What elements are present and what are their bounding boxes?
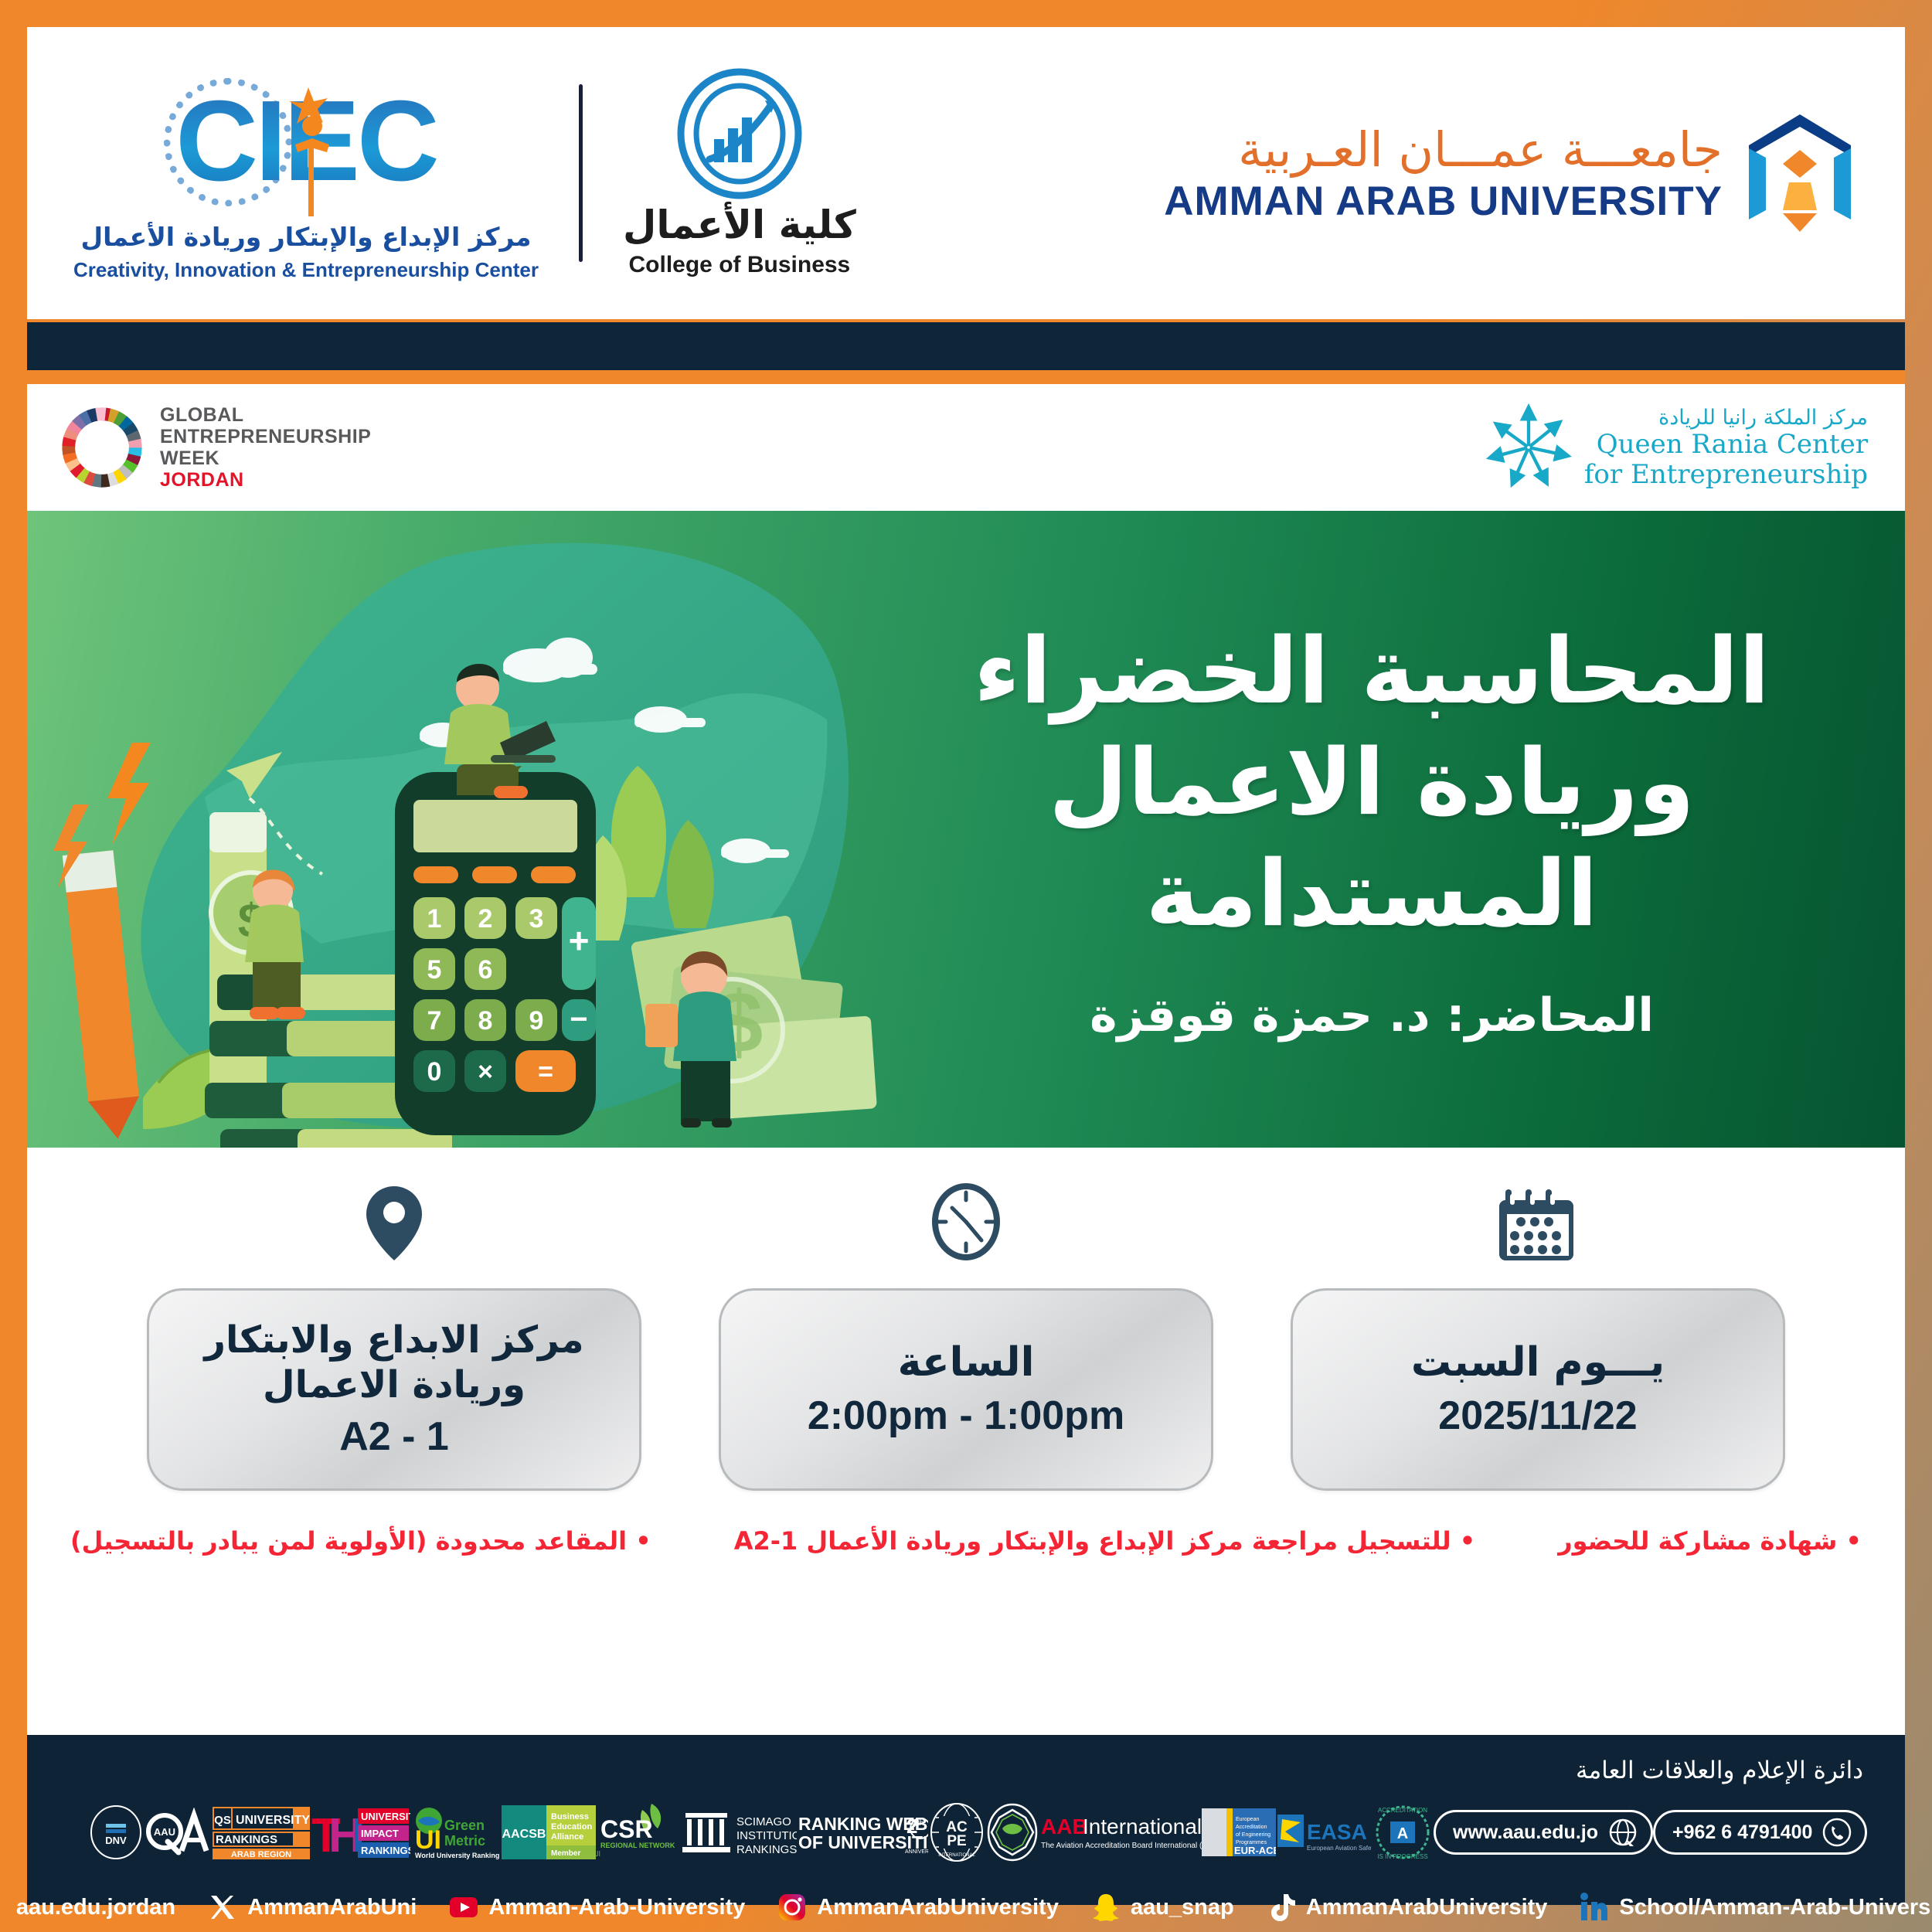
svg-text:SCIMAGO: SCIMAGO <box>736 1815 791 1828</box>
registration-notes: • شهادة مشاركة للحضور • للتسجيل مراجعة م… <box>27 1491 1905 1556</box>
svg-text:3: 3 <box>529 904 544 934</box>
location-name: مركز الابداع والابتكار وريادة الاعمال <box>169 1318 619 1408</box>
svg-text:×: × <box>478 1057 493 1087</box>
social-linkedin[interactable]: School/Amman-Arab-University <box>1578 1891 1932 1923</box>
phone-pill[interactable]: +962 6 4791400 <box>1653 1810 1867 1855</box>
note-limited-seats: • المقاعد محدودة (الأولوية لمن يبادر بال… <box>70 1526 651 1556</box>
svg-text:UNIVERSITY: UNIVERSITY <box>361 1811 410 1822</box>
college-of-business-icon <box>674 68 805 199</box>
qrc-english-line-1: Queen Rania Center <box>1584 430 1868 459</box>
phone-number: +962 6 4791400 <box>1672 1821 1812 1844</box>
footer-department: دائرة الإعلام والعلاقات العامة <box>69 1757 1863 1784</box>
svg-text:ARAB REGION: ARAB REGION <box>231 1850 291 1859</box>
qrc-arrows-icon <box>1484 403 1573 492</box>
location-room: A2 - 1 <box>339 1413 449 1461</box>
event-speaker: المحاضر: د. حمزة قوقزة <box>1090 988 1654 1043</box>
svg-text:A: A <box>1397 1825 1408 1842</box>
facebook-icon <box>0 1891 8 1923</box>
svg-text:INSTITUTIONS: INSTITUTIONS <box>736 1829 797 1842</box>
svg-text:RANKINGS: RANKINGS <box>361 1845 410 1856</box>
svg-text:AAB: AAB <box>1041 1815 1088 1838</box>
university-arabic-name: جامعـــة عمـــان العـربية <box>1164 121 1723 178</box>
university-logo-block: جامعـــة عمـــان العـربية AMMAN ARAB UNI… <box>1164 111 1905 235</box>
svg-text:Alliance: Alliance <box>551 1832 583 1842</box>
header-left-logos: CIEC مركز الإبداع والإبتكار وريادة الأعم… <box>27 64 856 282</box>
linkedin-icon <box>1578 1891 1611 1923</box>
accreditation-logos: DNV AAU <box>69 1795 1863 1869</box>
snapchat-icon <box>1090 1891 1122 1923</box>
svg-text:ACCREDITATION: ACCREDITATION <box>1378 1807 1427 1814</box>
qrc-text: مركز الملكة رانيا للريادة Queen Rania Ce… <box>1584 406 1868 488</box>
note-registration: • للتسجيل مراجعة مركز الإبداع والإبتكار … <box>734 1526 1475 1556</box>
detail-card-date-box: يـــوم السبت 2025/11/22 <box>1291 1288 1785 1491</box>
svg-text:INTERNATIONAL: INTERNATIONAL <box>938 1853 975 1858</box>
svg-text:=: = <box>538 1057 553 1087</box>
gew-line-4: JORDAN <box>160 469 371 491</box>
qrc-arabic-name: مركز الملكة رانيا للريادة <box>1584 406 1868 430</box>
facebook-handle: aau.edu.jordan <box>16 1895 175 1920</box>
calendar-icon <box>1495 1175 1581 1268</box>
islamic-accreditation-logo <box>985 1802 1039 1862</box>
instagram-handle: AmmanArabUniversity <box>817 1895 1059 1920</box>
detail-card-date: يـــوم السبت 2025/11/22 <box>1291 1175 1785 1491</box>
qa-logo: AAU <box>145 1808 213 1857</box>
social-facebook[interactable]: aau.edu.jordan <box>0 1891 175 1923</box>
college-english-name: College of Business <box>629 252 851 278</box>
event-title-line-3: المستدامة <box>974 838 1770 950</box>
note-certificate: • شهادة مشاركة للحضور <box>1558 1526 1862 1556</box>
university-crest-icon <box>1743 111 1857 235</box>
detail-card-time-box: الساعة 2:00pm - 1:00pm <box>719 1288 1213 1491</box>
tiktok-icon <box>1265 1891 1298 1923</box>
svg-text:AAU: AAU <box>154 1826 175 1838</box>
qrc-english-line-2: for Entrepreneurship <box>1584 460 1868 489</box>
partners-row: GLOBAL ENTREPRENEURSHIP WEEK JORDAN <box>27 384 1905 511</box>
poster-frame: CIEC مركز الإبداع والإبتكار وريادة الأعم… <box>0 0 1932 1932</box>
detail-card-location: مركز الابداع والابتكار وريادة الاعمال A2… <box>147 1175 641 1491</box>
svg-text:The Aviation Accreditation Boa: The Aviation Accreditation Board Interna… <box>1041 1842 1202 1850</box>
gew-line-1: GLOBAL <box>160 404 371 426</box>
svg-text:Metric: Metric <box>444 1833 485 1849</box>
svg-text:Education: Education <box>551 1822 592 1832</box>
aab-international-logo: AAB International The Aviation Accredita… <box>1039 1808 1202 1857</box>
date-value: 2025/11/22 <box>1438 1392 1637 1440</box>
svg-text:International: International <box>1083 1815 1202 1838</box>
youtube-icon <box>447 1891 480 1923</box>
svg-text:Green: Green <box>444 1818 485 1833</box>
svg-text:European: European <box>1236 1817 1259 1822</box>
svg-text:5: 5 <box>427 955 442 985</box>
ciec-arabic-name: مركز الإبداع والإبتكار وريادة الأعمال <box>81 222 532 252</box>
event-title-line-2: وريادة الاعمال <box>974 727 1770 838</box>
svg-text:AACSB: AACSB <box>502 1828 546 1841</box>
easa-logo: EASA European Aviation Safety Agency <box>1276 1808 1372 1856</box>
gew-jordan-logo: GLOBAL ENTREPRENEURSHIP WEEK JORDAN <box>56 402 371 493</box>
the-impact-rankings-logo: T H E UNIVERSITY IMPACT RANKINGS <box>310 1804 410 1861</box>
ciec-person-icon <box>283 81 345 216</box>
svg-text:8: 8 <box>478 1006 493 1036</box>
svg-text:9: 9 <box>529 1006 544 1036</box>
svg-text:RANKINGS: RANKINGS <box>216 1833 277 1846</box>
x-twitter-icon <box>206 1891 239 1923</box>
detail-card-time: الساعة 2:00pm - 1:00pm <box>719 1175 1213 1491</box>
svg-text:PE: PE <box>947 1833 966 1849</box>
svg-text:UNIVERSITY: UNIVERSITY <box>236 1814 310 1827</box>
scimago-logo: SCIMAGO INSTITUTIONS RANKINGS <box>682 1805 797 1859</box>
poster-footer: دائرة الإعلام والعلاقات العامة DNV AAU <box>27 1735 1905 1905</box>
ciec-ring-decor <box>164 78 292 206</box>
ranking-web-logo: RANKING WEB OF UNIVERSITIES 2 th ANNIVER… <box>797 1807 928 1858</box>
svg-text:World University Ranking: World University Ranking <box>415 1852 499 1859</box>
poster-sheet: CIEC مركز الإبداع والإبتكار وريادة الأعم… <box>27 27 1905 1905</box>
svg-text:IMPACT: IMPACT <box>361 1828 399 1839</box>
tiktok-handle: AmmanArabUniversity <box>1306 1895 1548 1920</box>
globe-icon <box>1607 1817 1638 1848</box>
social-x[interactable]: AmmanArabUni <box>206 1891 417 1923</box>
linkedin-handle: School/Amman-Arab-University <box>1619 1895 1932 1920</box>
gew-wheel-icon <box>56 402 148 493</box>
svg-text:ANNIVERSARY: ANNIVERSARY <box>905 1849 928 1855</box>
svg-text:6: 6 <box>478 955 493 985</box>
event-banner: 1 2 3 5 6 7 8 9 0 × = + − <box>27 511 1905 1148</box>
svg-text:EUR-ACE: EUR-ACE <box>1234 1845 1276 1856</box>
social-media-row: aau.edu.jordan AmmanArabUni Amman-Arab-U… <box>69 1891 1863 1923</box>
eur-ace-logo: European Accreditation of Engineering Pr… <box>1202 1807 1276 1858</box>
phone-icon <box>1821 1817 1852 1848</box>
poster-header: CIEC مركز الإبداع والإبتكار وريادة الأعم… <box>27 27 1905 319</box>
instagram-icon <box>776 1891 808 1923</box>
event-title: المحاسبة الخضراء وريادة الاعمال المستدام… <box>974 616 1770 950</box>
social-youtube[interactable]: Amman-Arab-University <box>447 1891 745 1923</box>
gew-line-3: WEEK <box>160 447 371 469</box>
university-text: جامعـــة عمـــان العـربية AMMAN ARAB UNI… <box>1164 121 1723 225</box>
svg-text:7: 7 <box>427 1006 442 1036</box>
orange-separator-bar <box>27 370 1905 384</box>
svg-text:th: th <box>917 1819 923 1828</box>
social-snapchat[interactable]: aau_snap <box>1090 1891 1234 1923</box>
svg-text:IS IN PROGRESS: IS IN PROGRESS <box>1377 1853 1427 1860</box>
college-arabic-name: كلية الأعمال <box>623 202 856 247</box>
ciec-english-name: Creativity, Innovation & Entrepreneurshi… <box>73 258 539 282</box>
svg-text:QS: QS <box>214 1814 231 1827</box>
ui-greenmetric-logo: UI Green Metric World University Ranking <box>410 1804 502 1861</box>
gew-text: GLOBAL ENTREPRENEURSHIP WEEK JORDAN <box>160 404 371 491</box>
svg-text:UI: UI <box>415 1825 441 1855</box>
svg-text:CSR: CSR <box>600 1815 653 1843</box>
svg-text:European Aviation Safety Agenc: European Aviation Safety Agency <box>1307 1845 1372 1852</box>
svg-text:RANKINGS: RANKINGS <box>736 1843 797 1856</box>
youtube-handle: Amman-Arab-University <box>488 1895 745 1920</box>
svg-text:0: 0 <box>427 1057 442 1087</box>
svg-text:Member: Member <box>551 1849 580 1858</box>
location-pin-icon <box>351 1175 437 1268</box>
svg-text:Accreditation: Accreditation <box>1236 1825 1267 1830</box>
detail-cards: يـــوم السبت 2025/11/22 <box>27 1148 1905 1491</box>
x-handle: AmmanArabUni <box>247 1895 417 1920</box>
svg-text:+: + <box>569 920 590 961</box>
clock-icon <box>923 1175 1009 1268</box>
svg-text:الشبكة الإقليمية: الشبكة الإقليمية <box>596 1851 600 1859</box>
event-details-section: يـــوم السبت 2025/11/22 <box>27 1148 1905 1735</box>
dnv-logo: DNV <box>87 1804 145 1861</box>
website-pill[interactable]: www.aau.edu.jo <box>1434 1810 1653 1855</box>
accreditation-in-progress-logo: A ACCREDITATION IS IN PROGRESS <box>1372 1801 1434 1863</box>
svg-text:Business: Business <box>551 1812 589 1821</box>
aacsb-logo: AACSB Business Education Alliance Member <box>502 1804 596 1861</box>
qs-university-rankings-logo: QS UNIVERSITY RANKINGS ARAB REGION <box>213 1804 310 1861</box>
navy-separator-bar <box>27 322 1905 370</box>
university-english-name: AMMAN ARAB UNIVERSITY <box>1164 178 1723 225</box>
svg-text:1: 1 <box>427 904 442 934</box>
svg-text:of Engineering: of Engineering <box>1236 1832 1270 1838</box>
svg-text:EASA: EASA <box>1307 1820 1367 1844</box>
detail-card-location-box: مركز الابداع والابتكار وريادة الاعمال A2… <box>147 1288 641 1491</box>
social-tiktok[interactable]: AmmanArabUniversity <box>1265 1891 1548 1923</box>
svg-text:2: 2 <box>478 904 493 934</box>
gew-line-2: ENTREPRENEURSHIP <box>160 426 371 447</box>
queen-rania-center-logo: مركز الملكة رانيا للريادة Queen Rania Ce… <box>1484 403 1868 492</box>
college-of-business-block: كلية الأعمال College of Business <box>623 68 856 278</box>
banner-illustration: 1 2 3 5 6 7 8 9 0 × = + − <box>27 511 893 1148</box>
social-instagram[interactable]: AmmanArabUniversity <box>776 1891 1059 1923</box>
svg-text:−: − <box>570 1002 587 1036</box>
green-accounting-illustration: 1 2 3 5 6 7 8 9 0 × = + − <box>27 511 893 1148</box>
ciec-logo-block: CIEC مركز الإبداع والإبتكار وريادة الأعم… <box>73 64 539 282</box>
time-label: الساعة <box>898 1338 1035 1387</box>
svg-text:REGIONAL NETWORK: REGIONAL NETWORK <box>600 1842 675 1849</box>
ciec-mark: CIEC <box>159 64 453 219</box>
snapchat-handle: aau_snap <box>1131 1895 1234 1920</box>
csr-logo: CSR REGIONAL NETWORK الشبكة الإقليمية <box>596 1802 682 1862</box>
dnv-label: DNV <box>105 1835 127 1846</box>
time-value: 2:00pm - 1:00pm <box>808 1392 1124 1440</box>
website-url: www.aau.edu.jo <box>1453 1821 1598 1844</box>
acpe-logo: AC PE INTERNATIONAL <box>928 1802 985 1862</box>
event-title-line-1: المحاسبة الخضراء <box>974 616 1770 727</box>
header-divider <box>579 84 583 262</box>
date-day-label: يـــوم السبت <box>1411 1338 1665 1387</box>
banner-text-block: المحاسبة الخضراء وريادة الاعمال المستدام… <box>893 511 1905 1148</box>
